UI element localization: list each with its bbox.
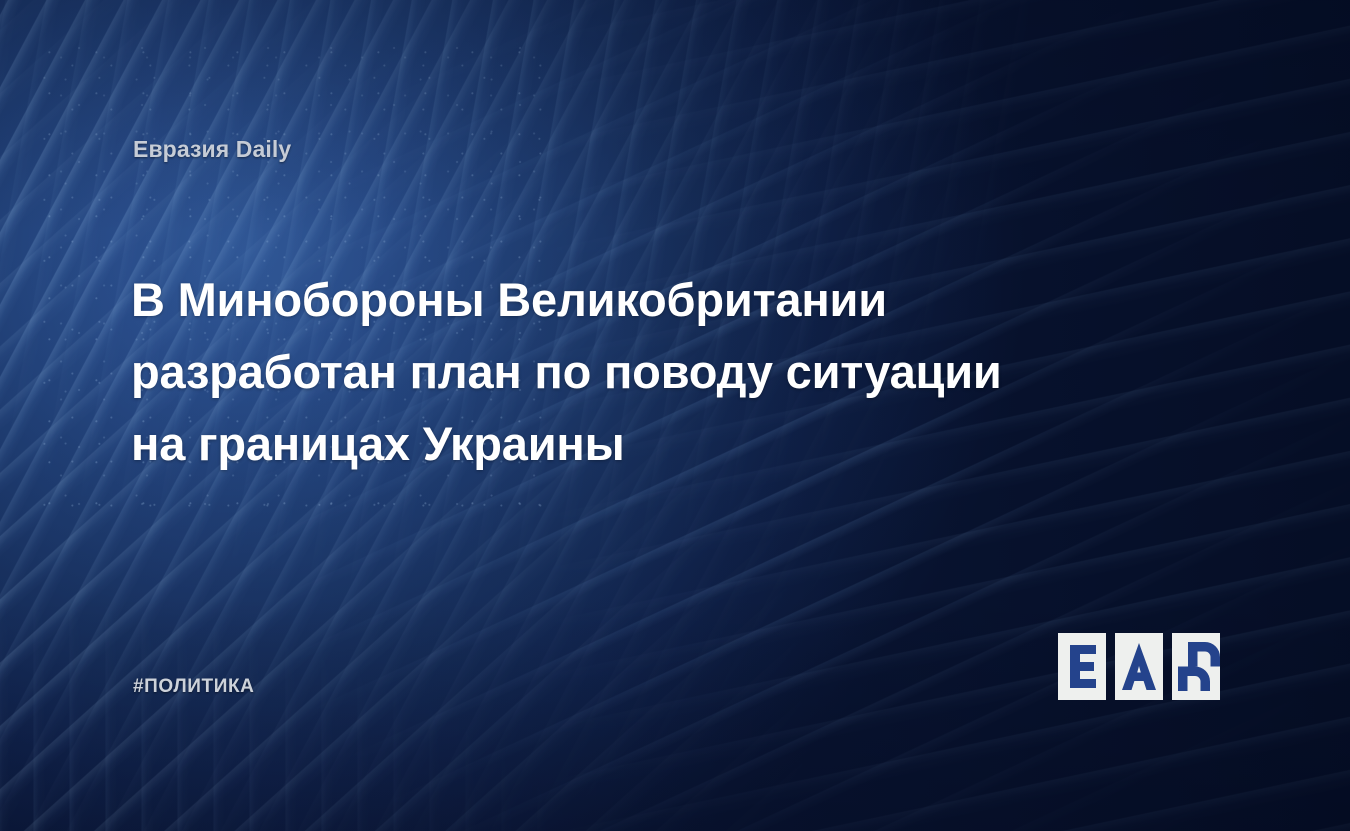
ead-logo: [1058, 633, 1220, 700]
headline-line-1: В Минобороны Великобритании: [131, 264, 1141, 336]
social-share-card: Евразия Daily В Минобороны Великобритани…: [0, 0, 1350, 831]
category-hashtag: #ПОЛИТИКА: [133, 676, 255, 698]
ead-logo-tile-d: [1172, 633, 1220, 700]
headline-line-2: разработан план по поводу ситуации: [131, 336, 1141, 408]
headline: В Минобороны Великобритании разработан п…: [131, 264, 1141, 480]
card-content: Евразия Daily В Минобороны Великобритани…: [0, 0, 1350, 831]
headline-line-3: на границах Украины: [131, 408, 1141, 480]
brand-wordmark: Евразия Daily: [133, 136, 291, 163]
ead-logo-tile-e: [1058, 633, 1106, 700]
ead-logo-tile-a: [1115, 633, 1163, 700]
